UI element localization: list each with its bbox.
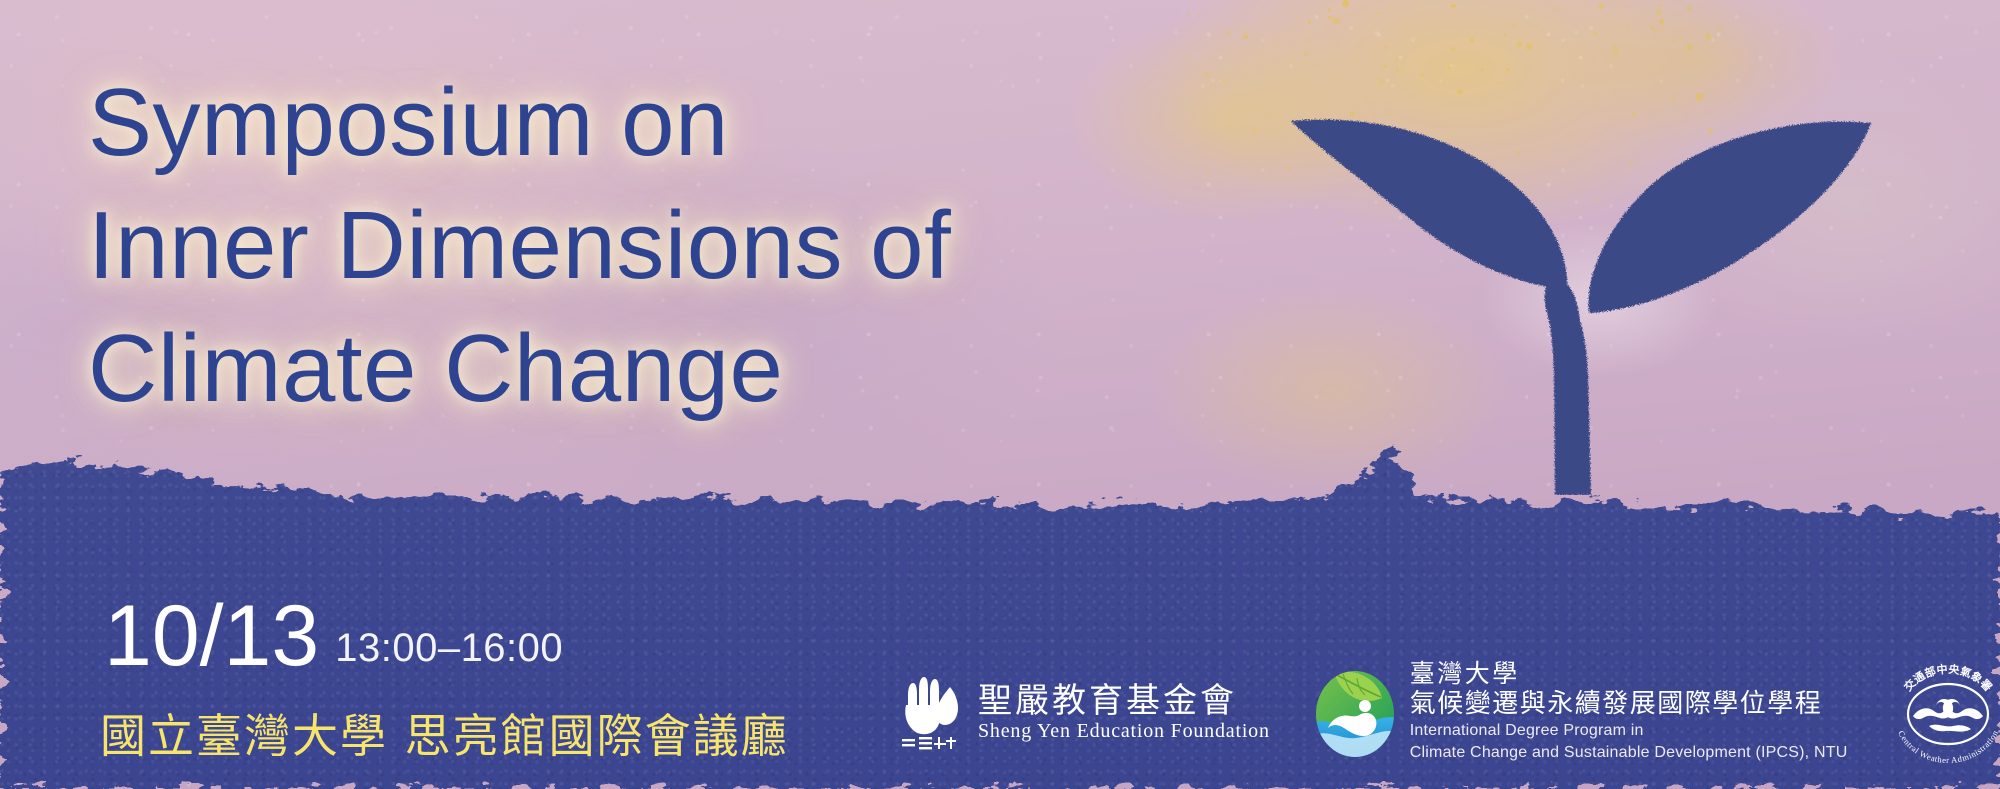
- event-date: 10/13: [104, 596, 319, 678]
- ntu-name-en-line1: International Degree Program in: [1410, 721, 1848, 741]
- ntu-name-cn-line2: 氣候變遷與永續發展國際學位學程: [1410, 690, 1848, 719]
- logo-ntu-ipcs: 臺灣大學 氣候變遷與永續發展國際學位學程 International Degre…: [1312, 660, 1848, 764]
- ntu-name-cn-line1: 臺灣大學: [1410, 660, 1848, 688]
- event-date-time: 10/13 13:00–16:00: [104, 596, 563, 678]
- title-line-1: Symposium on: [88, 62, 1148, 185]
- logo-central-weather-administration: 交通部中央氣象署 Central Weather Administration …: [1889, 656, 2000, 768]
- sheng-yen-name-cn: 聖嚴教育基金會: [978, 684, 1270, 718]
- sponsor-logo-row: 聖嚴教育基金會 Sheng Yen Education Foundation: [900, 648, 1982, 776]
- logo-sheng-yen-education-foundation: 聖嚴教育基金會 Sheng Yen Education Foundation: [900, 673, 1270, 751]
- svg-text:交通部中央氣象署: 交通部中央氣象署: [1901, 662, 1995, 694]
- ntu-name-en-line2: Climate Change and Sustainable Developme…: [1410, 743, 1848, 763]
- event-venue: 國立臺灣大學 思亮館國際會議廳: [100, 700, 789, 766]
- event-banner: Symposium on Inner Dimensions of Climate…: [0, 0, 2000, 789]
- dharma-drum-hand-icon: [900, 673, 966, 751]
- cwa-seal-icon: 交通部中央氣象署 Central Weather Administration: [1889, 656, 2000, 768]
- sheng-yen-name-en: Sheng Yen Education Foundation: [978, 721, 1270, 741]
- svg-text:Central Weather Administration: Central Weather Administration: [1897, 728, 2000, 765]
- title-line-3: Climate Change: [88, 308, 1148, 431]
- poster-title: Symposium on Inner Dimensions of Climate…: [88, 62, 1148, 431]
- title-line-2: Inner Dimensions of: [88, 185, 1148, 308]
- event-time: 13:00–16:00: [335, 626, 563, 671]
- leaf-globe-figure-icon: [1312, 666, 1398, 758]
